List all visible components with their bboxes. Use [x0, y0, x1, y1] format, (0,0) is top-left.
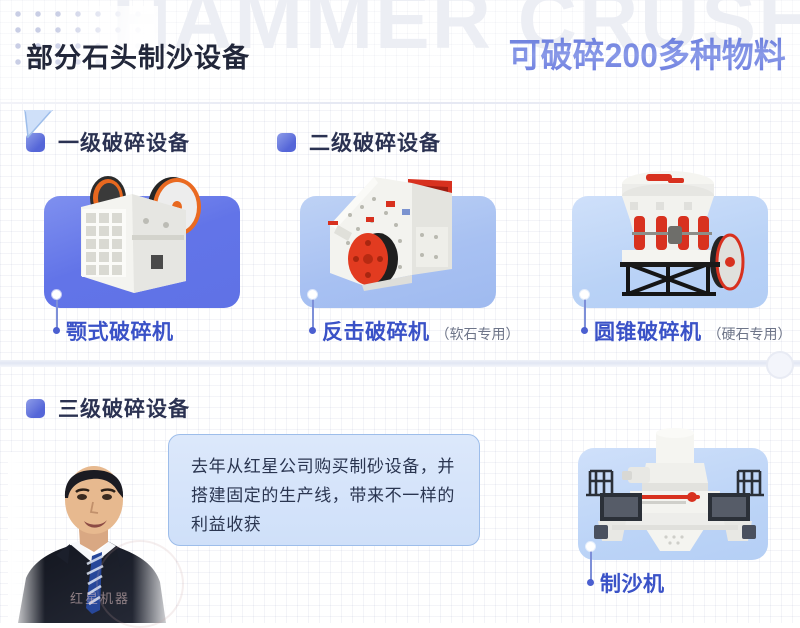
connector-dot-top — [308, 290, 317, 299]
connector-dot-bottom — [53, 327, 60, 334]
product-note: （软石专用） — [436, 324, 520, 344]
bubble-tail-icon — [24, 110, 54, 138]
product-caption-jaw-crusher: 颚式破碎机 — [66, 316, 180, 346]
product-name: 制沙机 — [600, 568, 665, 598]
connector-dot-top — [52, 290, 61, 299]
logo-watermark-text: 红星机器 — [70, 588, 130, 607]
connector-dot-top — [586, 542, 595, 551]
testimonial-line: 搭建固定的生产线，带来不一样的 — [191, 481, 459, 510]
jaw-crusher-image — [46, 163, 242, 303]
section-label: 三级破碎设备 — [58, 393, 190, 423]
page-title: 部分石头制沙设备 — [26, 36, 250, 75]
divider-knob-icon — [766, 351, 794, 379]
connector-dot-bottom — [309, 327, 316, 334]
product-name: 反击破碎机 — [322, 316, 430, 346]
connector-dot-bottom — [587, 579, 594, 586]
testimonial-line: 利益收获 — [191, 510, 459, 539]
section-divider — [0, 360, 800, 367]
product-note: （硬石专用） — [708, 324, 792, 344]
product-caption-sand-maker: 制沙机 — [600, 568, 671, 598]
testimonial-bubble: 去年从红星公司购买制砂设备，并 搭建固定的生产线，带来不一样的 利益收获 — [168, 434, 480, 546]
product-name: 圆锥破碎机 — [594, 316, 702, 346]
connector-dot-top — [580, 290, 589, 299]
product-caption-cone-crusher: 圆锥破碎机 （硬石专用） — [594, 316, 792, 346]
cone-crusher-image — [572, 158, 772, 306]
section-label: 一级破碎设备 — [58, 127, 190, 157]
square-bullet-icon — [26, 399, 45, 418]
section-heading-secondary: 二级破碎设备 — [277, 127, 441, 157]
section-label: 二级破碎设备 — [309, 127, 441, 157]
impact-crusher-image — [300, 163, 500, 305]
page-header: HAMMER CRUSHER 部分石头制沙设备 可破碎200多种物料 — [0, 0, 800, 104]
logo-circle-watermark — [96, 540, 184, 628]
square-bullet-icon — [277, 133, 296, 152]
header-subtitle: 可破碎200多种物料 — [509, 28, 786, 77]
sand-making-machine-image — [568, 425, 782, 559]
connector-dot-bottom — [581, 327, 588, 334]
testimonial-line: 去年从红星公司购买制砂设备，并 — [191, 452, 459, 481]
product-name: 颚式破碎机 — [66, 316, 174, 346]
product-caption-impact-crusher: 反击破碎机 （软石专用） — [322, 316, 520, 346]
header-divider — [0, 102, 800, 104]
section-heading-tertiary: 三级破碎设备 — [26, 393, 190, 423]
